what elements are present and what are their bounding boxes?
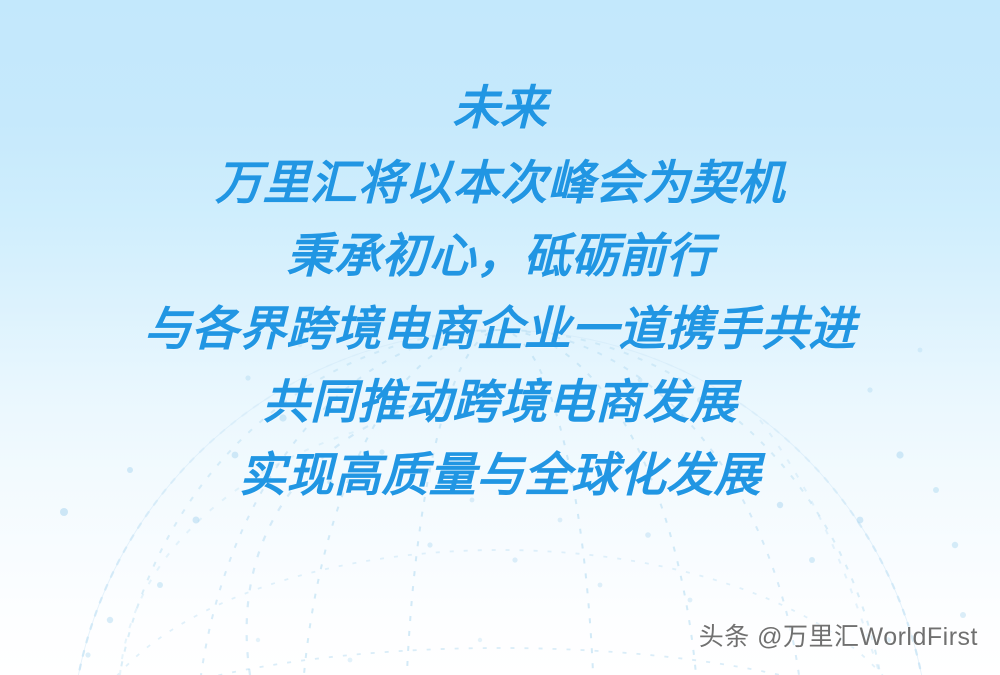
poster-canvas: 未来 万里汇将以本次峰会为契机 秉承初心，砥砺前行 与各界跨境电商企业一道携手共… [0,0,1000,675]
headline-block: 未来 万里汇将以本次峰会为契机 秉承初心，砥砺前行 与各界跨境电商企业一道携手共… [0,84,1000,498]
headline-line-3: 秉承初心，砥砺前行 [0,232,1000,279]
headline-line-1: 未来 [0,84,1000,131]
watermark-attribution: 头条 @万里汇WorldFirst [699,617,978,653]
headline-line-6: 实现高质量与全球化发展 [0,451,1000,498]
headline-line-2: 万里汇将以本次峰会为契机 [0,159,1000,206]
headline-line-4: 与各界跨境电商企业一道携手共进 [0,305,1000,352]
headline-line-5: 共同推动跨境电商发展 [0,378,1000,425]
